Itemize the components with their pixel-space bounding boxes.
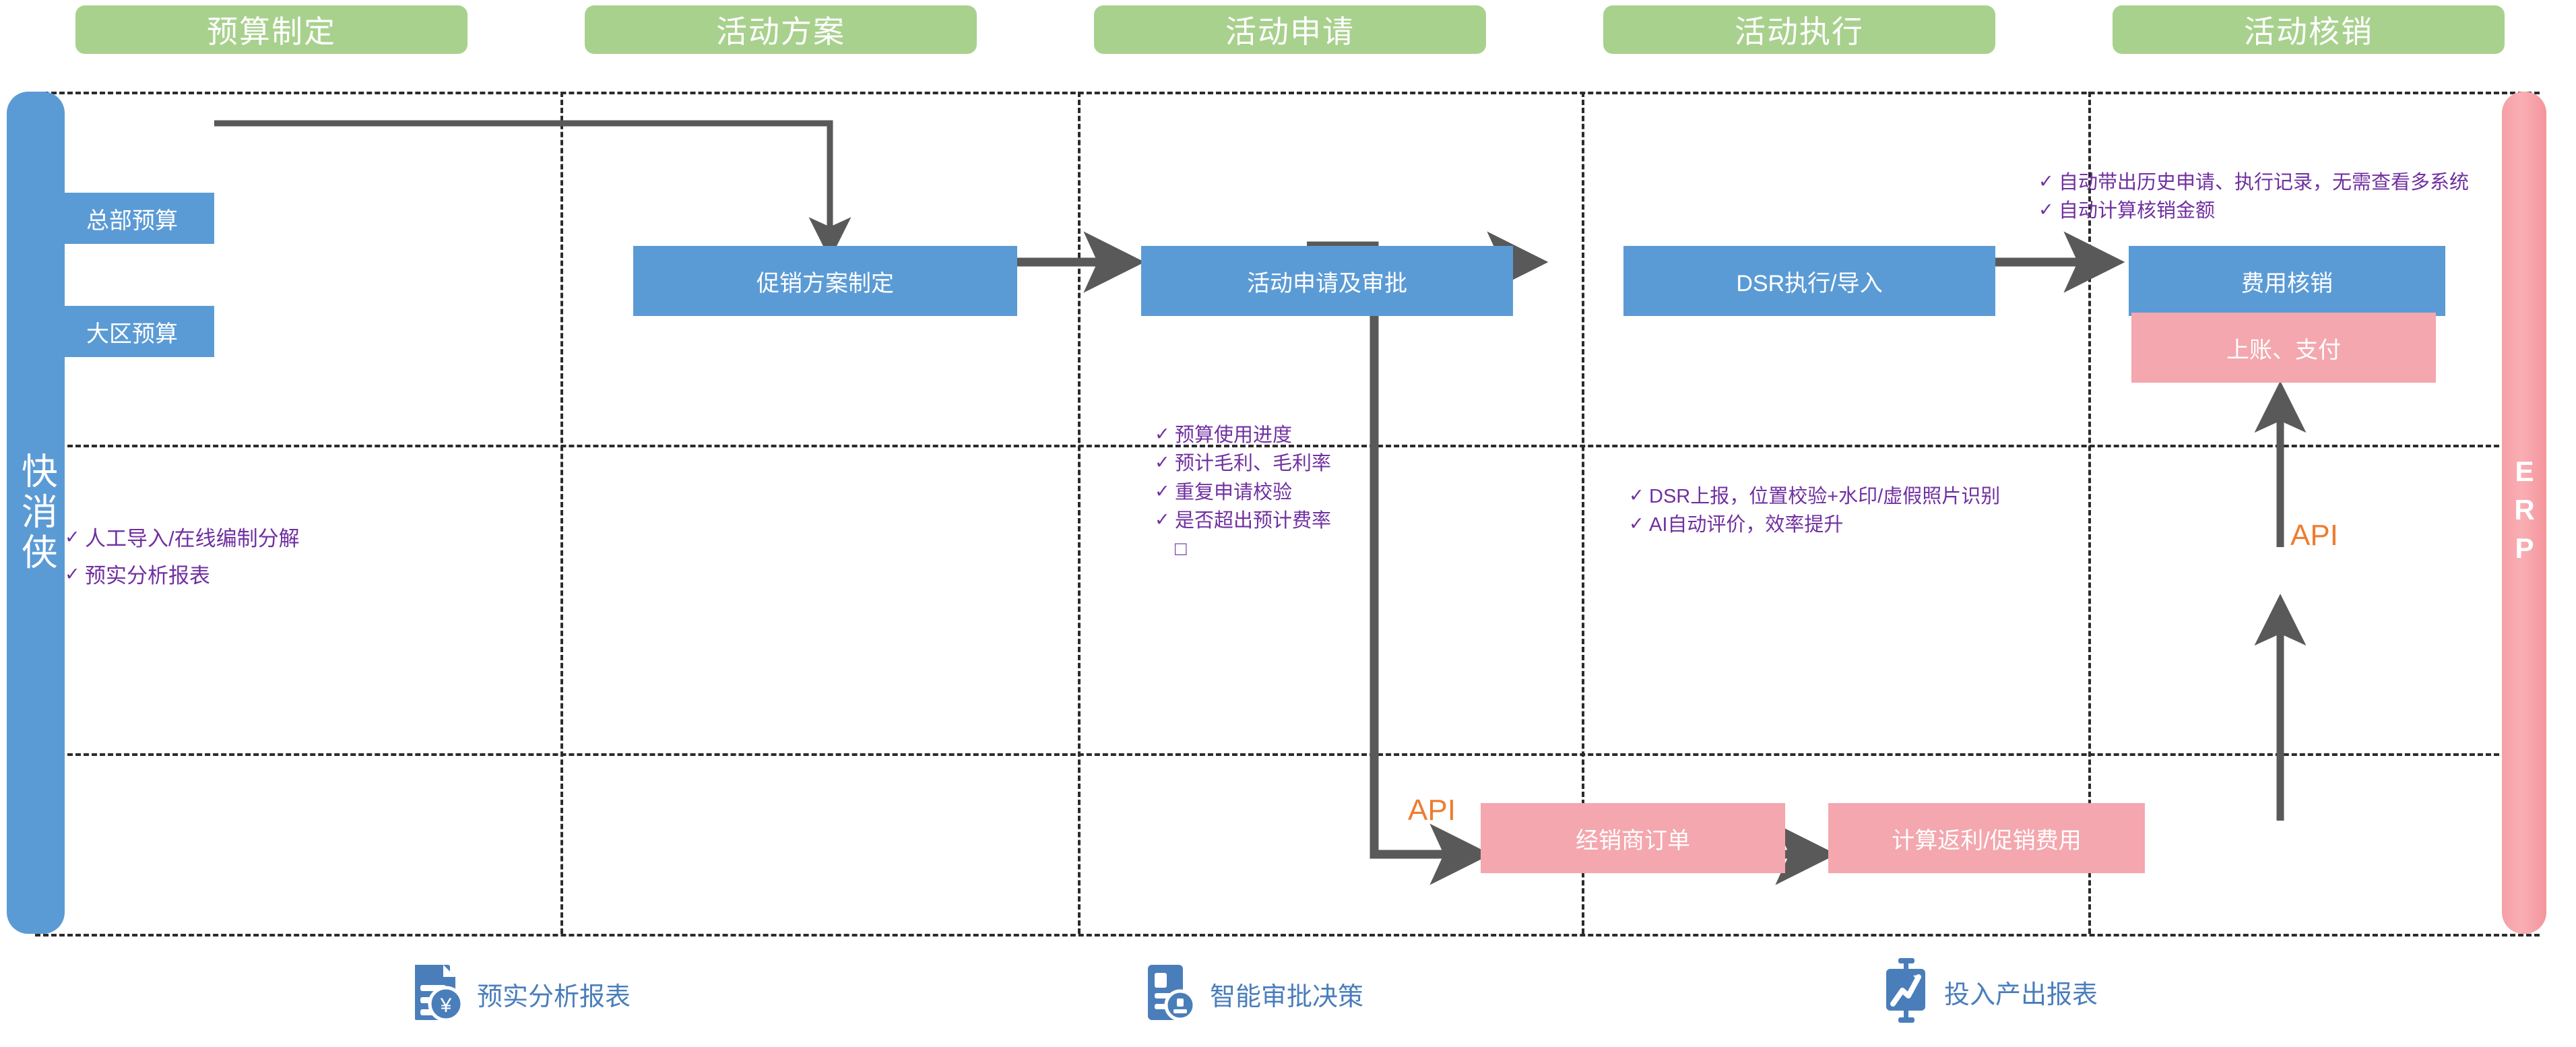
check-icon: ✓ [2038, 198, 2059, 222]
check-icon: ✓ [1155, 508, 1175, 532]
note-text: 是否超出预计费率 [1175, 508, 1505, 534]
smart-approval-icon [1145, 962, 1195, 1026]
footer-item-smart-approval[interactable]: 智能审批决策 [1145, 962, 1363, 1026]
phase-header-execute: 活动执行 [1603, 5, 1995, 54]
notes-apply: ✓ 预算使用进度 ✓ 预计毛利、毛利率 ✓ 重复申请校验 ✓ 是否超出预计费率 … [1155, 422, 1505, 565]
note-text: 预实分析报表 [85, 563, 496, 590]
node-promo-plan[interactable]: 促销方案制定 [633, 246, 1017, 316]
swimlane-divider-bottom [35, 934, 2540, 937]
node-label: DSR执行/导入 [1736, 265, 1882, 298]
node-label: 费用核销 [2241, 265, 2333, 298]
phase-header-label: 活动方案 [716, 7, 845, 52]
note-bullet: ✓ 预实分析报表 [65, 563, 496, 590]
note-text: 重复申请校验 [1175, 480, 1505, 505]
check-icon: ✓ [65, 526, 85, 550]
phase-header-label: 预算制定 [207, 7, 336, 52]
note-text: 自动计算核销金额 [2059, 198, 2470, 224]
note-bullet: ✓ 自动带出历史申请、执行记录，无需查看多系统 [2038, 170, 2470, 195]
swimlane-divider-lower [35, 753, 2540, 756]
check-icon: ✓ [1155, 422, 1175, 447]
phase-header-label: 活动执行 [1735, 7, 1864, 52]
note-text: 预算使用进度 [1175, 422, 1505, 448]
phase-header-plan: 活动方案 [585, 5, 977, 54]
check-icon: ✓ [1629, 484, 1649, 508]
note-bullet: ✓ 自动计算核销金额 [2038, 198, 2470, 224]
phase-header-label: 活动申请 [1225, 7, 1355, 52]
phase-divider-2 [1078, 92, 1081, 934]
footer-label: 智能审批决策 [1210, 976, 1363, 1013]
swimlane-divider-top [35, 92, 2540, 94]
svg-text:¥: ¥ [440, 994, 452, 1017]
check-icon: ✓ [65, 563, 85, 587]
phase-header-apply: 活动申请 [1094, 5, 1486, 54]
node-post-and-pay[interactable]: 上账、支付 [2131, 313, 2436, 383]
rail-erp: ERP [2502, 92, 2546, 934]
note-text: 预计毛利、毛利率 [1175, 451, 1505, 476]
rail-left-label: 快消侠 [17, 452, 55, 573]
flowchart-canvas: 预算制定 活动方案 活动申请 活动执行 活动核销 快消侠 ERP [0, 0, 2576, 1047]
check-icon: ✓ [2038, 170, 2059, 194]
api-label-text: API [1408, 794, 1456, 827]
note-text: 人工导入/在线编制分解 [85, 526, 496, 553]
node-activity-apply[interactable]: 活动申请及审批 [1141, 246, 1513, 316]
node-label: 计算返利/促销费用 [1892, 822, 2081, 855]
note-bullet: ✓ 重复申请校验 [1155, 480, 1505, 505]
node-hq-budget[interactable]: 总部预算 [50, 193, 214, 244]
node-label: 活动申请及审批 [1247, 265, 1407, 298]
note-bullet: ✓ 预计毛利、毛利率 [1155, 451, 1505, 476]
node-label: 大区预算 [86, 315, 178, 348]
note-bullet-placeholder: □ [1155, 536, 1505, 562]
note-bullet: ✓ 人工导入/在线编制分解 [65, 526, 496, 553]
node-label: 上账、支付 [2226, 331, 2341, 364]
footer-item-roi-report[interactable]: 投入产出报表 [1879, 957, 2098, 1027]
check-icon: ✓ [1155, 480, 1175, 504]
phase-header-settle: 活动核销 [2113, 5, 2505, 54]
note-bullet: ✓ DSR上报，位置校验+水印/虚假照片识别 [1629, 484, 2020, 509]
note-bullet: ✓ 预算使用进度 [1155, 422, 1505, 448]
phase-header-budget: 预算制定 [75, 5, 468, 54]
budget-report-icon: ¥ [412, 962, 462, 1026]
rail-right-label: ERP [2509, 455, 2539, 571]
api-label-upper: API [2290, 519, 2338, 552]
footer-item-budget-report[interactable]: ¥ 预实分析报表 [412, 962, 631, 1026]
footer-label: 投入产出报表 [1944, 974, 2098, 1011]
node-label: 促销方案制定 [756, 265, 894, 298]
notes-settlement: ✓ 自动带出历史申请、执行记录，无需查看多系统 ✓ 自动计算核销金额 [2038, 170, 2470, 227]
check-icon: ✓ [1629, 512, 1649, 536]
node-dsr-execute[interactable]: DSR执行/导入 [1623, 246, 1995, 316]
node-label: 经销商订单 [1576, 822, 1690, 855]
footer-label: 预实分析报表 [477, 976, 631, 1013]
note-text: □ [1175, 536, 1505, 562]
api-label-lower: API [1408, 794, 1456, 827]
node-expense-settlement[interactable]: 费用核销 [2129, 246, 2445, 316]
note-text: 自动带出历史申请、执行记录，无需查看多系统 [2059, 170, 2470, 195]
phase-divider-1 [560, 92, 563, 934]
node-label: 总部预算 [86, 202, 178, 235]
note-bullet: ✓ 是否超出预计费率 [1155, 508, 1505, 534]
check-icon: ✓ [1155, 451, 1175, 475]
phase-header-label: 活动核销 [2244, 7, 2373, 52]
api-label-text: API [2290, 519, 2338, 552]
note-bullet: ✓ AI自动评价，效率提升 [1629, 512, 2020, 538]
notes-execute: ✓ DSR上报，位置校验+水印/虚假照片识别 ✓ AI自动评价，效率提升 [1629, 484, 2020, 541]
notes-budget: ✓ 人工导入/在线编制分解 ✓ 预实分析报表 [65, 526, 496, 600]
arrow-budget-to-plan [214, 123, 830, 243]
node-calc-rebate[interactable]: 计算返利/促销费用 [1828, 803, 2145, 873]
node-region-budget[interactable]: 大区预算 [50, 306, 214, 357]
node-dealer-order[interactable]: 经销商订单 [1481, 803, 1785, 873]
roi-report-icon [1879, 957, 1929, 1027]
note-text: DSR上报，位置校验+水印/虚假照片识别 [1649, 484, 2020, 509]
note-text: AI自动评价，效率提升 [1649, 512, 2020, 538]
